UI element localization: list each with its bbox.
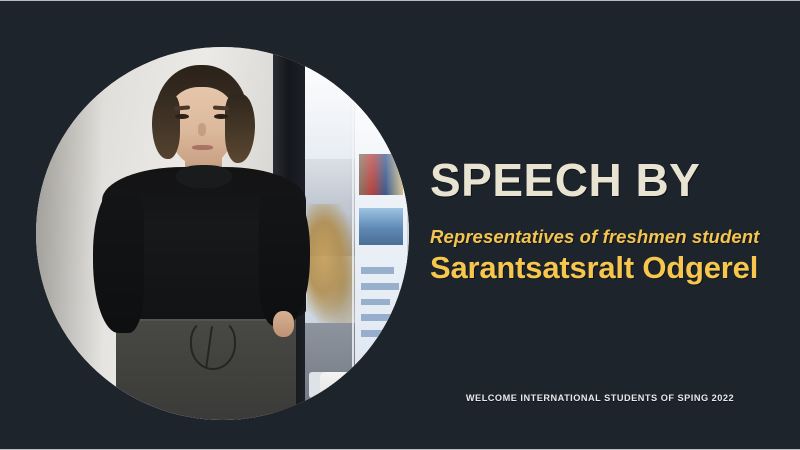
welcome-footer-note: WELCOME INTERNATIONAL STUDENTS OF SPING …	[430, 393, 770, 403]
nose	[198, 123, 206, 135]
window-area	[305, 47, 409, 420]
desk-object	[320, 372, 380, 413]
turtleneck-collar	[176, 165, 232, 189]
banner-text-line	[361, 267, 394, 274]
arm-right	[259, 188, 310, 325]
window-glow	[305, 47, 409, 204]
banner-text-line	[361, 330, 386, 337]
portrait-photo	[36, 47, 409, 420]
frame-edge-top	[0, 0, 800, 1]
hair-left-strand	[152, 94, 180, 159]
arm-left	[93, 188, 144, 333]
banner-text-line	[361, 299, 390, 306]
speaker-role-label: Representatives of freshmen student	[430, 204, 770, 247]
mouth	[192, 145, 213, 150]
circular-portrait	[36, 47, 409, 420]
hand	[273, 311, 294, 336]
hair-right-strand	[225, 94, 255, 163]
banner-text-line	[361, 314, 397, 321]
banner-text-line	[361, 283, 399, 290]
person-figure	[88, 58, 319, 420]
page-title: SPEECH BY	[430, 157, 770, 204]
speech-text-block: SPEECH BY Representatives of freshmen st…	[430, 157, 770, 286]
presentation-slide: SPEECH BY Representatives of freshmen st…	[0, 0, 800, 450]
speaker-name: Sarantsatsralt Odgerel	[430, 247, 770, 286]
banner-photo-middle	[359, 208, 403, 246]
